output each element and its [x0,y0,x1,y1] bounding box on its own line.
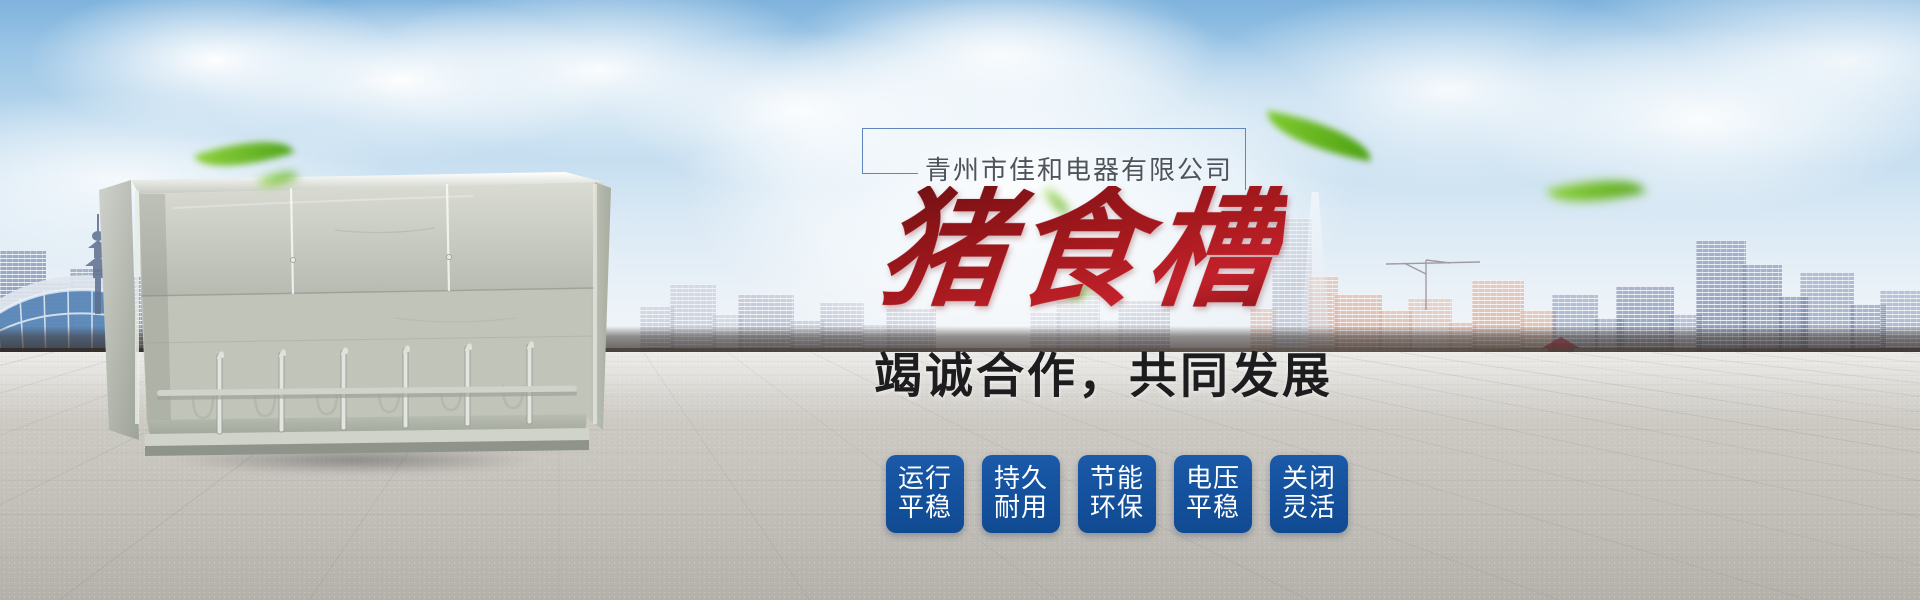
promotional-banner: 青州市佳和电器有限公司 猪食槽 竭诚合作，共同发展 运行平稳持久耐用节能环保电压… [0,0,1920,600]
feature-badge-3[interactable]: 节能环保 [1078,455,1156,533]
badge-line-2: 环保 [1090,494,1144,523]
feature-badge-list: 运行平稳持久耐用节能环保电压平稳关闭灵活 [886,455,1348,533]
badge-line-1: 电压 [1186,465,1240,494]
badge-line-1: 运行 [898,465,952,494]
feature-badge-2[interactable]: 持久耐用 [982,455,1060,533]
feature-badge-5[interactable]: 关闭灵活 [1270,455,1348,533]
plaza-tile-row [0,557,1920,558]
subtitle-slogan: 竭诚合作，共同发展 [874,352,1333,400]
badge-line-1: 关闭 [1282,465,1336,494]
badge-line-2: 平稳 [898,494,952,523]
badge-line-2: 平稳 [1186,494,1240,523]
badge-line-2: 灵活 [1282,494,1336,523]
feature-badge-4[interactable]: 电压平稳 [1174,455,1252,533]
badge-line-2: 耐用 [994,494,1048,523]
badge-line-1: 节能 [1090,465,1144,494]
feature-badge-1[interactable]: 运行平稳 [886,455,964,533]
badge-line-1: 持久 [994,465,1048,494]
main-title: 猪食槽 [873,186,1288,314]
product-image-feeder-trough [95,168,615,468]
company-name-frame-stub [862,173,918,174]
